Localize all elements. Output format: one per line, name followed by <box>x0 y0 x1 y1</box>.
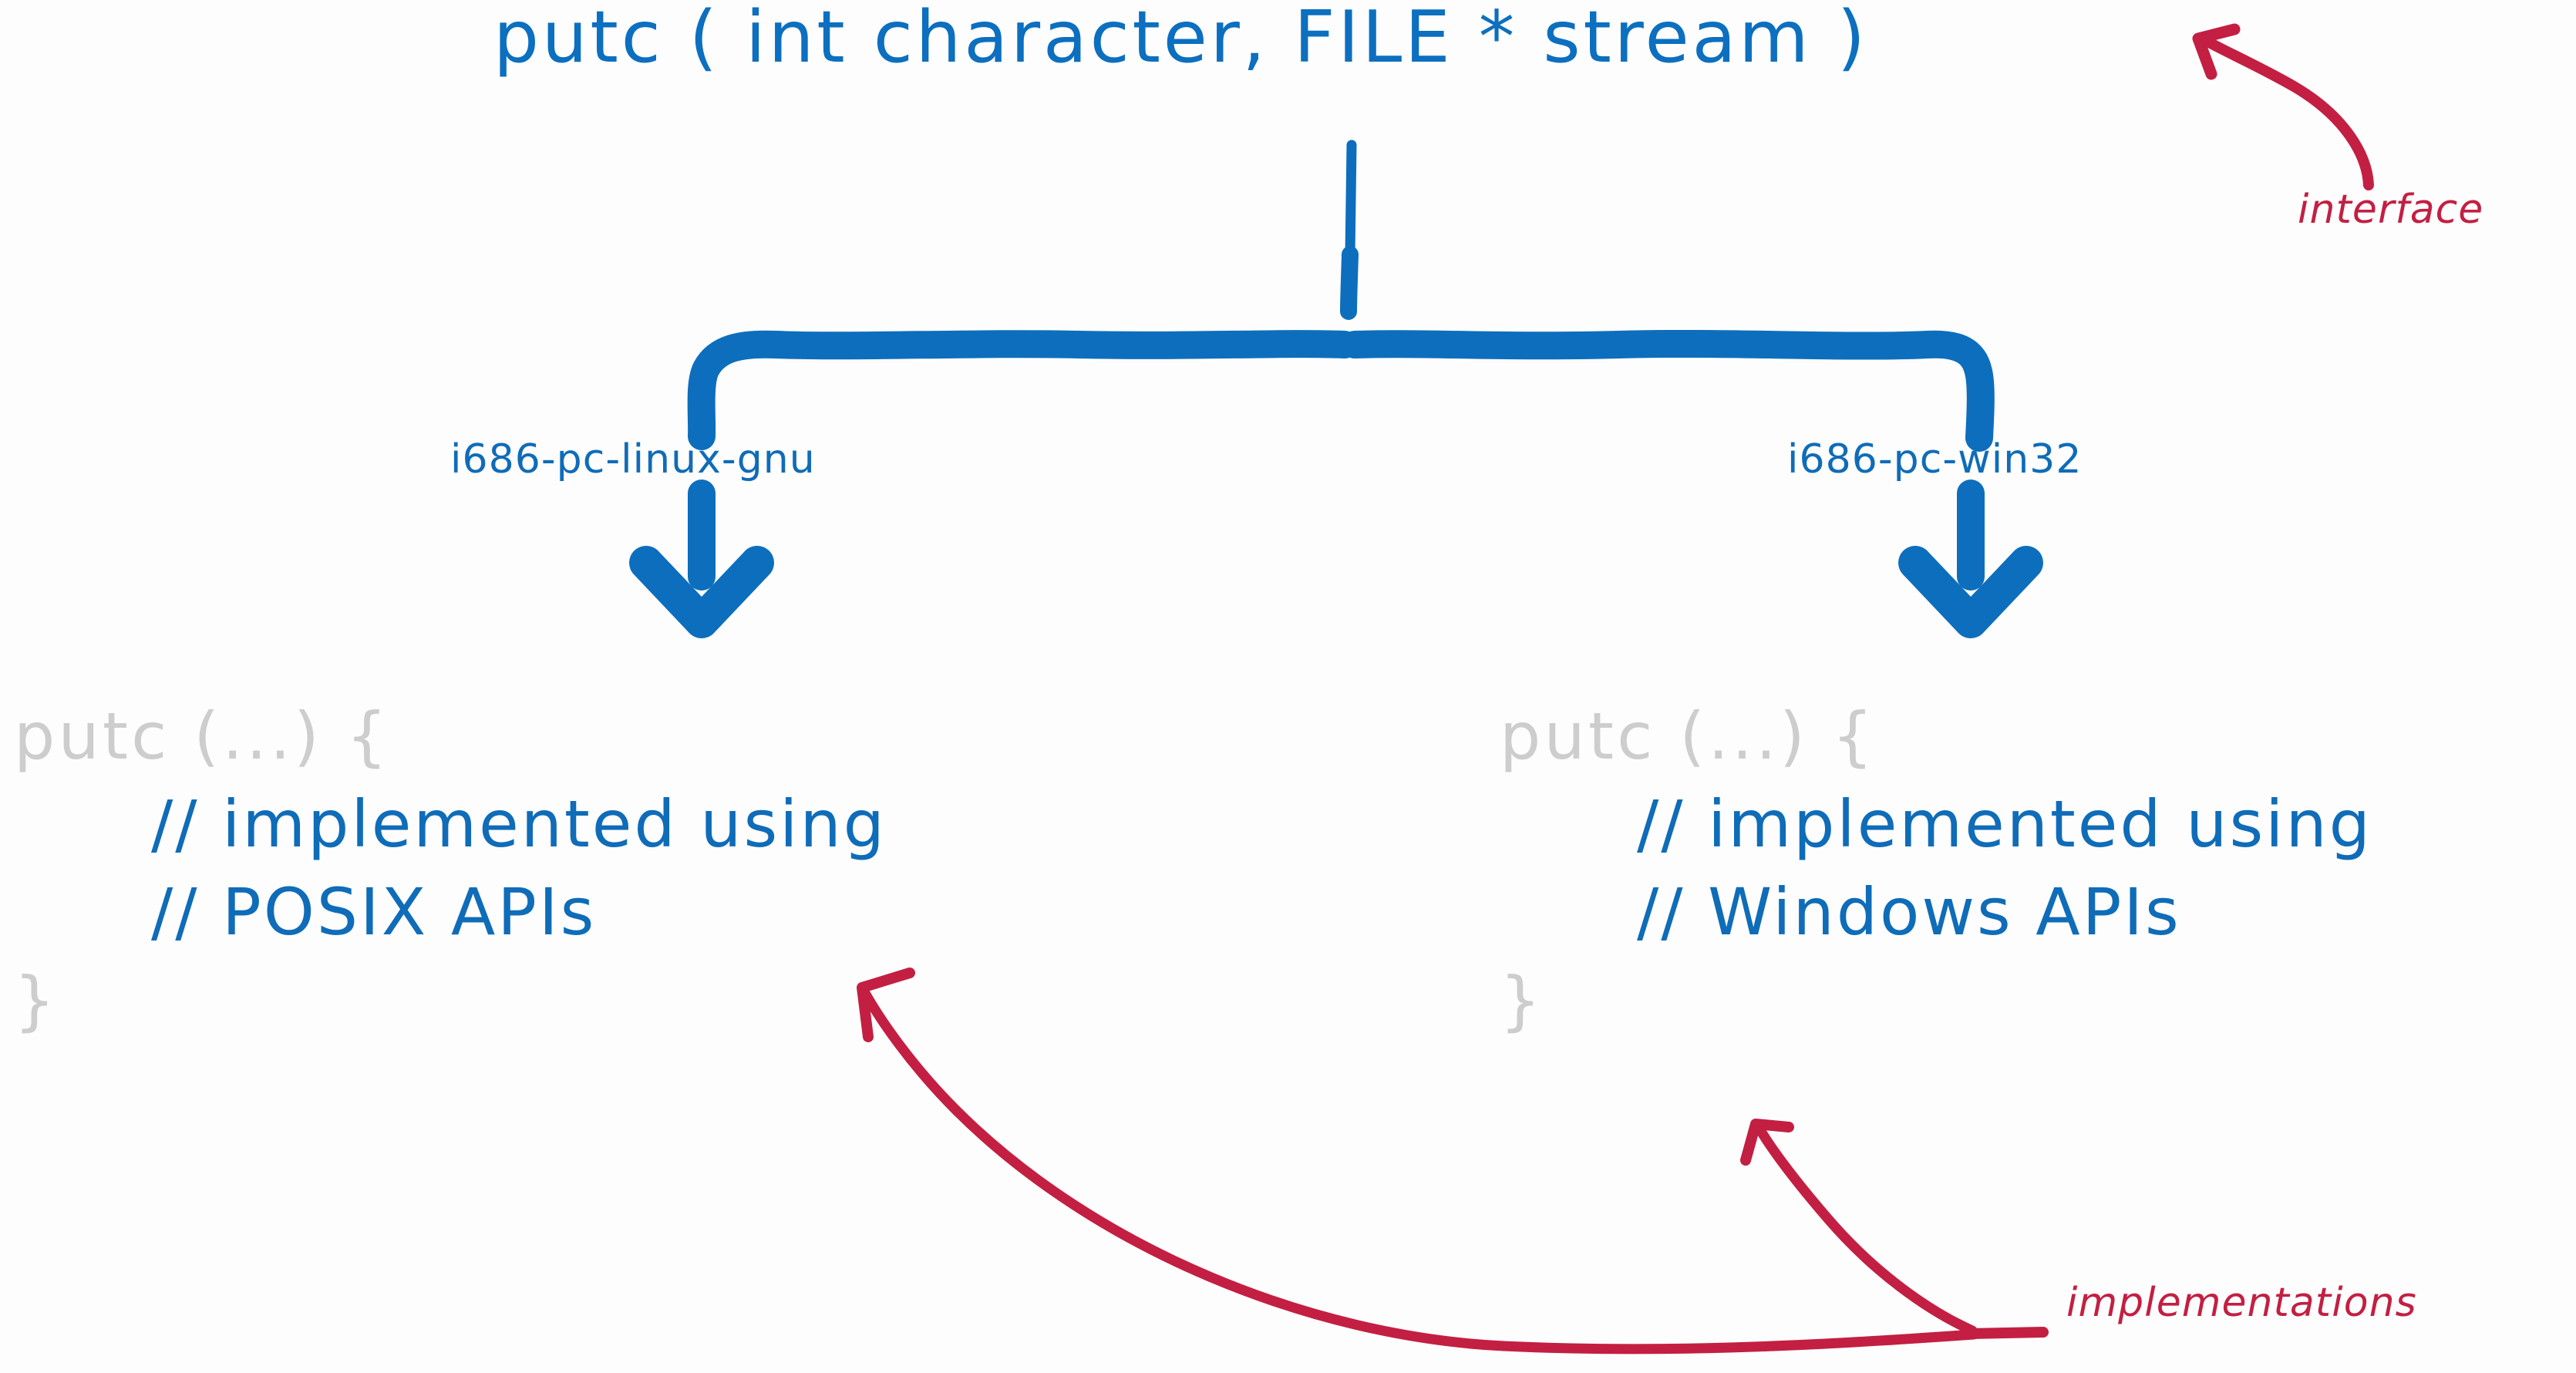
annotation-implementations: implementations <box>2066 1280 2417 1326</box>
impl-comment-line-1: // implemented using <box>1500 780 2372 868</box>
curved-arrow-left-icon <box>2198 29 2369 185</box>
stroke-layer <box>0 0 2576 1373</box>
impl-comment-line-1: // implemented using <box>14 780 887 868</box>
diagram-canvas: putc ( int character, FILE * stream ) i6… <box>0 0 2576 1373</box>
branch-label-linux: i686-pc-linux-gnu <box>450 436 816 483</box>
impl-closing-line: } <box>14 957 887 1045</box>
implementation-block-windows: putc (...) { // implemented using // Win… <box>1500 692 2372 1045</box>
down-arrow-icon <box>646 493 757 621</box>
impl-comment-line-2: // Windows APIs <box>1500 868 2372 956</box>
annotation-interface: interface <box>2298 187 2483 233</box>
branch-label-win32: i686-pc-win32 <box>1787 436 2082 483</box>
interface-signature: putc ( int character, FILE * stream ) <box>493 2 1868 73</box>
implementation-block-posix: putc (...) { // implemented using // POS… <box>14 692 887 1045</box>
impl-signature-line: putc (...) { <box>14 692 887 780</box>
impl-closing-line: } <box>1500 957 2372 1045</box>
tree-brace-connector <box>702 145 1981 438</box>
down-arrow-icon <box>1915 493 2026 621</box>
impl-signature-line: putc (...) { <box>1500 692 2372 780</box>
impl-comment-line-2: // POSIX APIs <box>14 868 887 956</box>
